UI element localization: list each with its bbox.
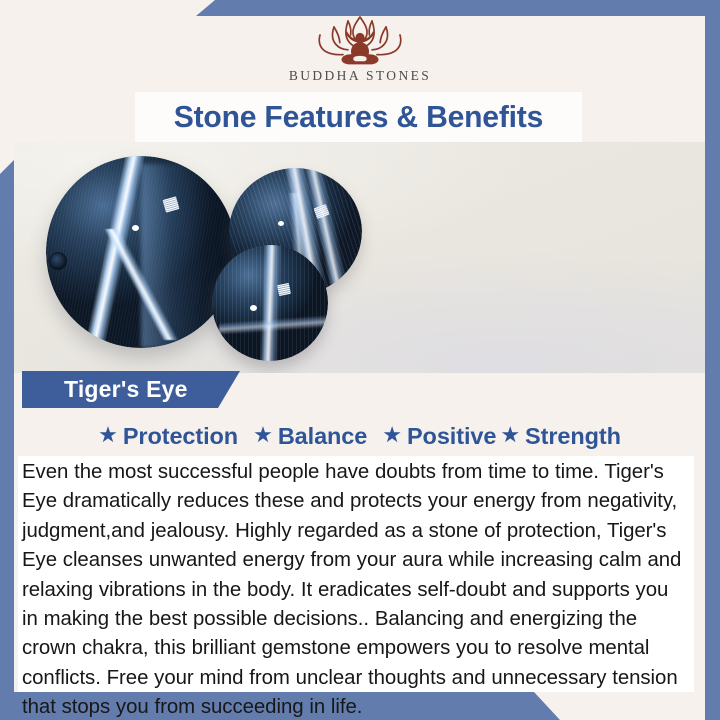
sphere-drill-hole	[49, 252, 67, 270]
page-title-band: Stone Features & Benefits	[135, 92, 582, 142]
star-icon: ★	[500, 424, 520, 446]
benefit-label: Protection	[123, 423, 238, 450]
frame-left-accent-bar	[0, 160, 14, 720]
gemstone-sphere-large	[46, 156, 236, 348]
benefit-item-positive: ★ Positive	[382, 423, 496, 450]
infographic-page: BUDDHA STONES Stone Features & Benefits	[0, 0, 720, 720]
page-title: Stone Features & Benefits	[174, 99, 543, 135]
star-icon: ★	[253, 424, 273, 446]
sphere-chatoyant-streak-secondary	[219, 298, 326, 351]
sphere-chatoyant-streak-secondary	[95, 229, 182, 340]
stone-name-banner: Tiger's Eye	[22, 371, 240, 408]
benefit-label: Positive	[407, 423, 496, 450]
star-icon: ★	[98, 424, 118, 446]
gemstone-sphere-small	[212, 245, 328, 361]
benefit-label: Strength	[525, 423, 621, 450]
stone-name: Tiger's Eye	[64, 376, 188, 403]
benefit-item-strength: ★ Strength	[500, 423, 621, 450]
lotus-meditation-icon	[298, 14, 422, 66]
benefit-item-balance: ★ Balance	[253, 423, 367, 450]
description-text: Even the most successful people have dou…	[18, 458, 694, 720]
brand-logo: BUDDHA STONES	[0, 14, 720, 88]
benefits-row: ★ Protection ★ Balance ★ Positive ★ Stre…	[14, 418, 705, 454]
benefit-item-protection: ★ Protection	[98, 423, 238, 450]
frame-right-accent-bar	[705, 0, 720, 720]
star-icon: ★	[382, 424, 402, 446]
benefit-label: Balance	[278, 423, 367, 450]
brand-name: BUDDHA STONES	[289, 68, 431, 84]
sphere-highlight-dot	[132, 225, 139, 231]
stone-photo	[14, 142, 705, 373]
description-panel: Even the most successful people have dou…	[18, 456, 694, 692]
